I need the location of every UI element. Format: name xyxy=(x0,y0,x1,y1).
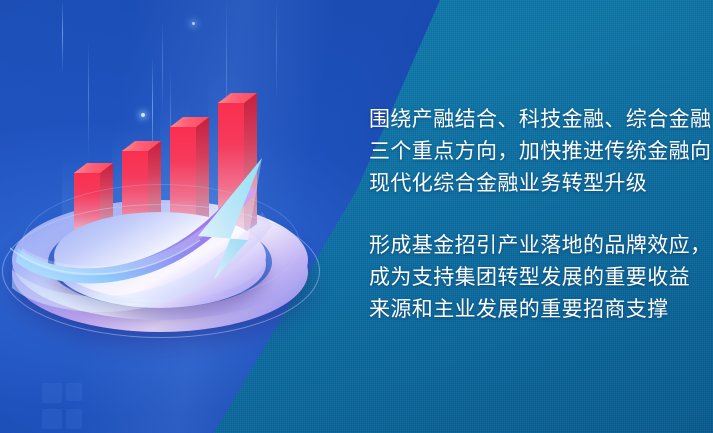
paragraph-2-line-2: 成为支持集团转型发展的重要收益 xyxy=(369,266,690,289)
paragraph-1: 围绕产融结合、科技金融、综合金融 三个重点方向，加快推进传统金融向 现代化综合金… xyxy=(369,104,689,200)
paragraph-2-line-3: 来源和主业发展的重要招商支撑 xyxy=(369,298,669,321)
paragraph-1-line-1: 围绕产融结合、科技金融、综合金融 xyxy=(369,108,711,131)
paragraph-2-line-1: 形成基金招引产业落地的品牌效应， xyxy=(369,234,711,257)
paragraph-2: 形成基金招引产业落地的品牌效应， 成为支持集团转型发展的重要收益 来源和主业发展… xyxy=(369,230,689,326)
banner: 围绕产融结合、科技金融、综合金融 三个重点方向，加快推进传统金融向 现代化综合金… xyxy=(0,0,713,433)
paragraph-1-line-2: 三个重点方向，加快推进传统金融向 xyxy=(369,140,711,163)
copy-block: 围绕产融结合、科技金融、综合金融 三个重点方向，加快推进传统金融向 现代化综合金… xyxy=(369,104,689,326)
paragraph-1-line-3: 现代化综合金融业务转型升级 xyxy=(369,172,647,195)
